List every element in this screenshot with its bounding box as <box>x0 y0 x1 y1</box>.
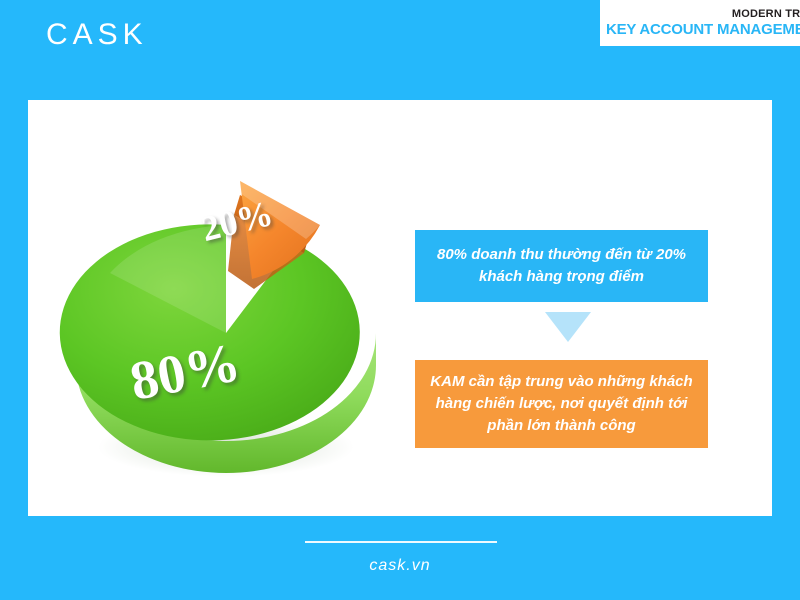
slide-root: CASK MODERN TRADE KEY ACCOUNT MANAGEMENT… <box>0 0 800 600</box>
callout-primary: 80% doanh thu thường đến từ 20% khách hà… <box>415 230 708 302</box>
cask-logo: CASK <box>46 19 148 51</box>
footer-url: cask.vn <box>0 557 800 575</box>
pie-chart-svg <box>58 155 388 485</box>
badge-title: KEY ACCOUNT MANAGEMENT <box>606 21 800 39</box>
modern-trade-badge: MODERN TRADE KEY ACCOUNT MANAGEMENT CASK <box>600 0 800 46</box>
badge-text-block: MODERN TRADE KEY ACCOUNT MANAGEMENT <box>600 0 800 46</box>
content-card: 80% 20% 80% doanh thu thường đến từ 20% … <box>28 100 772 516</box>
pie-chart: 80% 20% <box>58 155 388 485</box>
badge-subtitle: MODERN TRADE <box>732 8 800 21</box>
triangle-down-icon <box>545 312 591 342</box>
callout-secondary: KAM cần tập trung vào những khách hàng c… <box>415 360 708 448</box>
footer-divider <box>305 541 497 543</box>
